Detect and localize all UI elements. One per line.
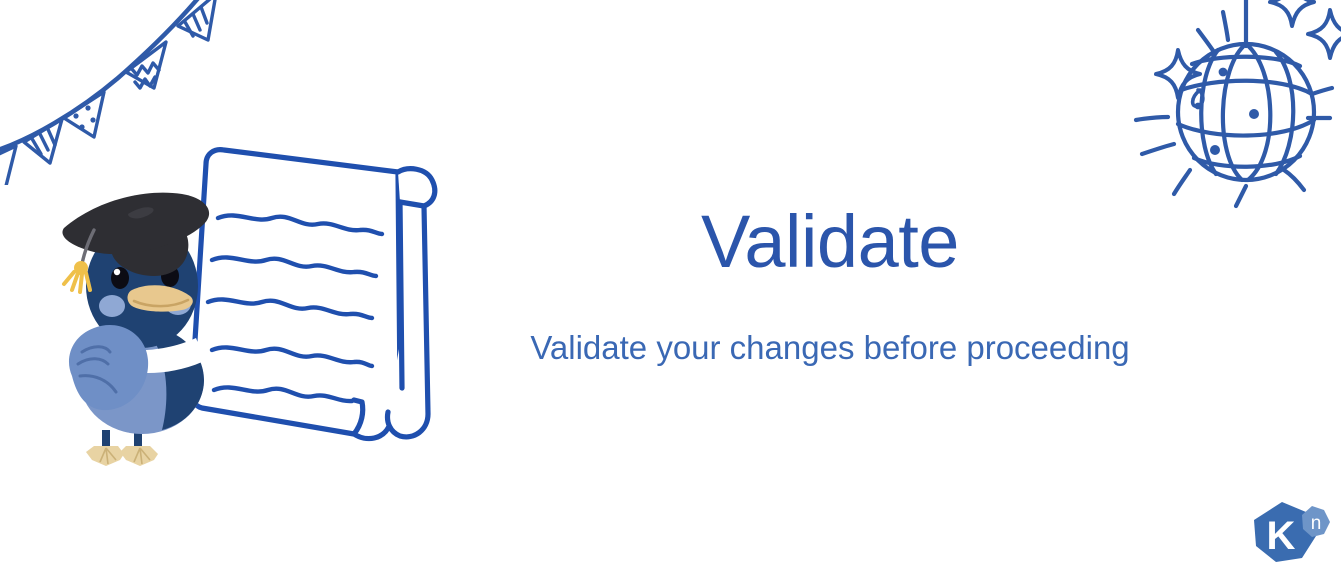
logo-letter-k: K [1267, 514, 1296, 558]
hero-text-block: Validate Validate your changes before pr… [460, 205, 1200, 364]
page-title: Validate [460, 205, 1200, 279]
logo-letter-n: n [1311, 513, 1322, 534]
graduate-bird-mascot [50, 180, 255, 470]
bird-feet [86, 430, 158, 466]
bird-cheek-left [99, 295, 125, 317]
page-subtitle: Validate your changes before proceeding [460, 279, 1200, 364]
bird-head [86, 224, 198, 348]
bird-beak [128, 285, 193, 311]
slide-canvas: Validate Validate your changes before pr… [0, 0, 1341, 585]
bird-eyes [111, 265, 179, 289]
brand-logo[interactable]: K n [1248, 500, 1332, 570]
disco-ball-icon [1118, 0, 1341, 229]
bird-belly [80, 326, 204, 434]
party-bunting-icon [0, 0, 230, 185]
bird-wing [69, 325, 148, 410]
bird-cheek-right [165, 293, 191, 315]
graduation-cap [62, 193, 209, 292]
certificate-scroll-icon [176, 136, 476, 456]
bird-collar [90, 338, 202, 373]
